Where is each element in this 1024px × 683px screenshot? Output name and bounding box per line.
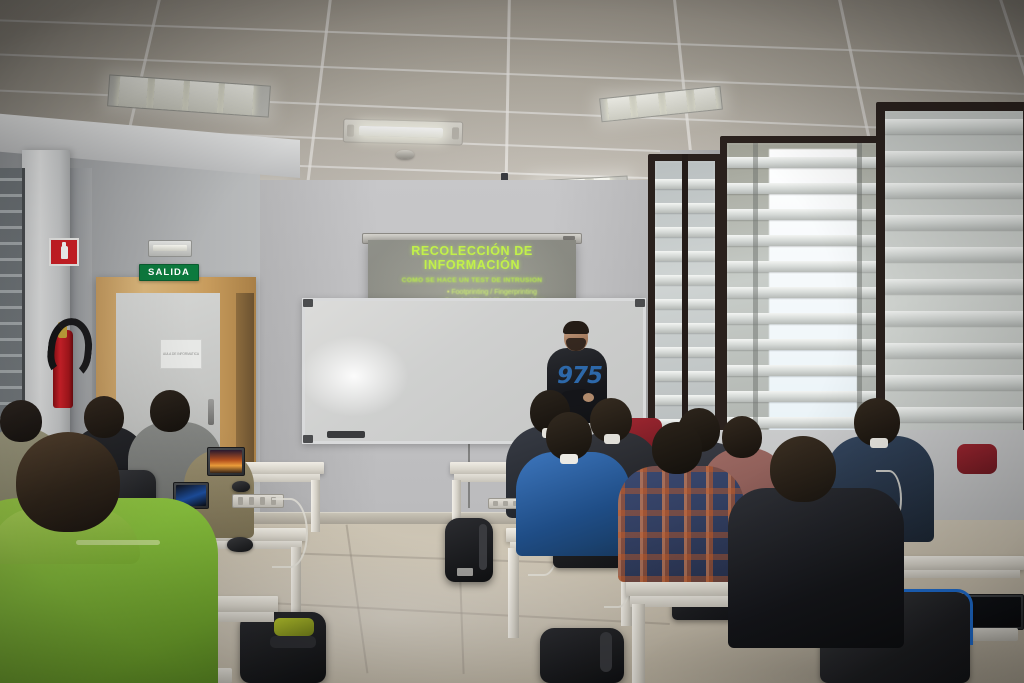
mouse-desk-front[interactable] bbox=[227, 537, 253, 552]
cable-loop-left bbox=[272, 498, 308, 568]
presenter-hand bbox=[583, 393, 594, 402]
whiteboard-glare bbox=[297, 309, 447, 429]
whiteboard-marker-tray bbox=[327, 431, 365, 438]
chair-red-far[interactable] bbox=[957, 444, 997, 474]
desk-far-right bbox=[900, 556, 1024, 616]
emergency-light bbox=[148, 240, 192, 257]
laptop-sunset[interactable] bbox=[207, 447, 245, 476]
exit-sign: SALIDA bbox=[139, 264, 199, 281]
hoodie-drawstring bbox=[76, 540, 160, 545]
backpack-floor-right bbox=[540, 628, 624, 683]
fire-extinguisher-icon bbox=[61, 246, 68, 259]
classroom-photo: RECOLECCIÓN DE INFORMACIÓN COMO SE HACE … bbox=[0, 0, 1024, 683]
backpack-center bbox=[445, 518, 493, 582]
door-handle[interactable] bbox=[208, 399, 214, 425]
slide-bullet: Footprinting / Fingerprinting bbox=[447, 289, 537, 296]
slide-subtitle: COMO SE HACE UN TEST DE INTRUSION bbox=[402, 277, 543, 284]
plaid-shirt-body bbox=[618, 466, 744, 582]
fire-extinguisher-sign bbox=[49, 238, 79, 266]
slide-title-line-1: RECOLECCIÓN DE bbox=[411, 244, 533, 258]
mouse-desk-left[interactable] bbox=[232, 481, 250, 492]
door-notice: AULA DE INFORMATICA bbox=[160, 339, 202, 369]
slide-title-line-2: INFORMACIÓN bbox=[424, 258, 520, 272]
presenter-hair bbox=[563, 321, 589, 334]
door-notice-text: AULA DE INFORMATICA bbox=[163, 352, 199, 356]
exit-sign-label: SALIDA bbox=[148, 267, 190, 278]
